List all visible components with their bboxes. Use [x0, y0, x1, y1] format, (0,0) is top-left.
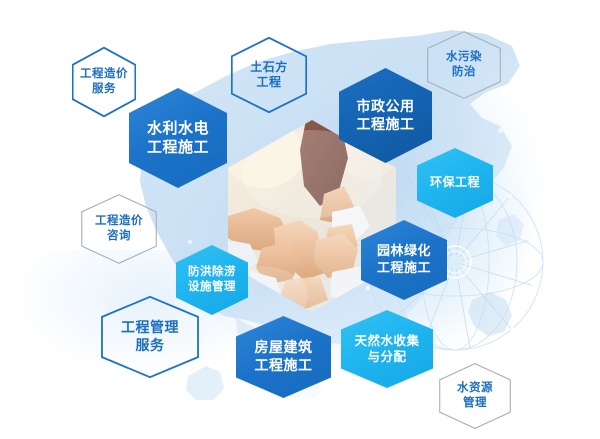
- hexagon-shuiwuran-fangzhi[interactable]: 水污染 防治: [427, 31, 501, 99]
- infographic-canvas: 工程造价 服务土石方 工程水污染 防治水利水电 工程施工市政公用 工程施工环保工…: [0, 0, 600, 439]
- hexagon-label: 水污染 防治: [444, 50, 484, 79]
- hexagon-label: 工程管理 服务: [119, 319, 181, 355]
- hexagon-shuiziyuan-guanli[interactable]: 水资源 管理: [439, 363, 511, 429]
- hexagon-label: 市政公用 工程施工: [355, 98, 417, 134]
- hexagon-label: 房屋建筑 工程施工: [253, 339, 315, 375]
- hexagon-label: 水利水电 工程施工: [145, 119, 211, 157]
- hexagon-label: 防洪除涝 设施管理: [186, 265, 238, 294]
- hexagon-tushifang-gongcheng[interactable]: 土石方 工程: [231, 37, 307, 113]
- hexagon-label: 水资源 管理: [455, 381, 495, 410]
- hexagon-label: 工程造价 服务: [78, 67, 130, 96]
- hexagon-label: 环保工程: [428, 175, 482, 190]
- hexagon-label: 工程造价 咨询: [93, 214, 145, 243]
- hexagon-label: 土石方 工程: [248, 60, 290, 91]
- hexagon-label: 园林绿化 工程施工: [375, 243, 433, 276]
- hexagon-gongcheng-guanli-fuwu[interactable]: 工程管理 服务: [101, 296, 199, 378]
- hexagon-gongcheng-zaojia-fuwu[interactable]: 工程造价 服务: [72, 47, 136, 117]
- hexagon-gongcheng-zaojia-zixun[interactable]: 工程造价 咨询: [81, 194, 157, 264]
- hexagon-label: 天然水收集 与分配: [352, 333, 421, 365]
